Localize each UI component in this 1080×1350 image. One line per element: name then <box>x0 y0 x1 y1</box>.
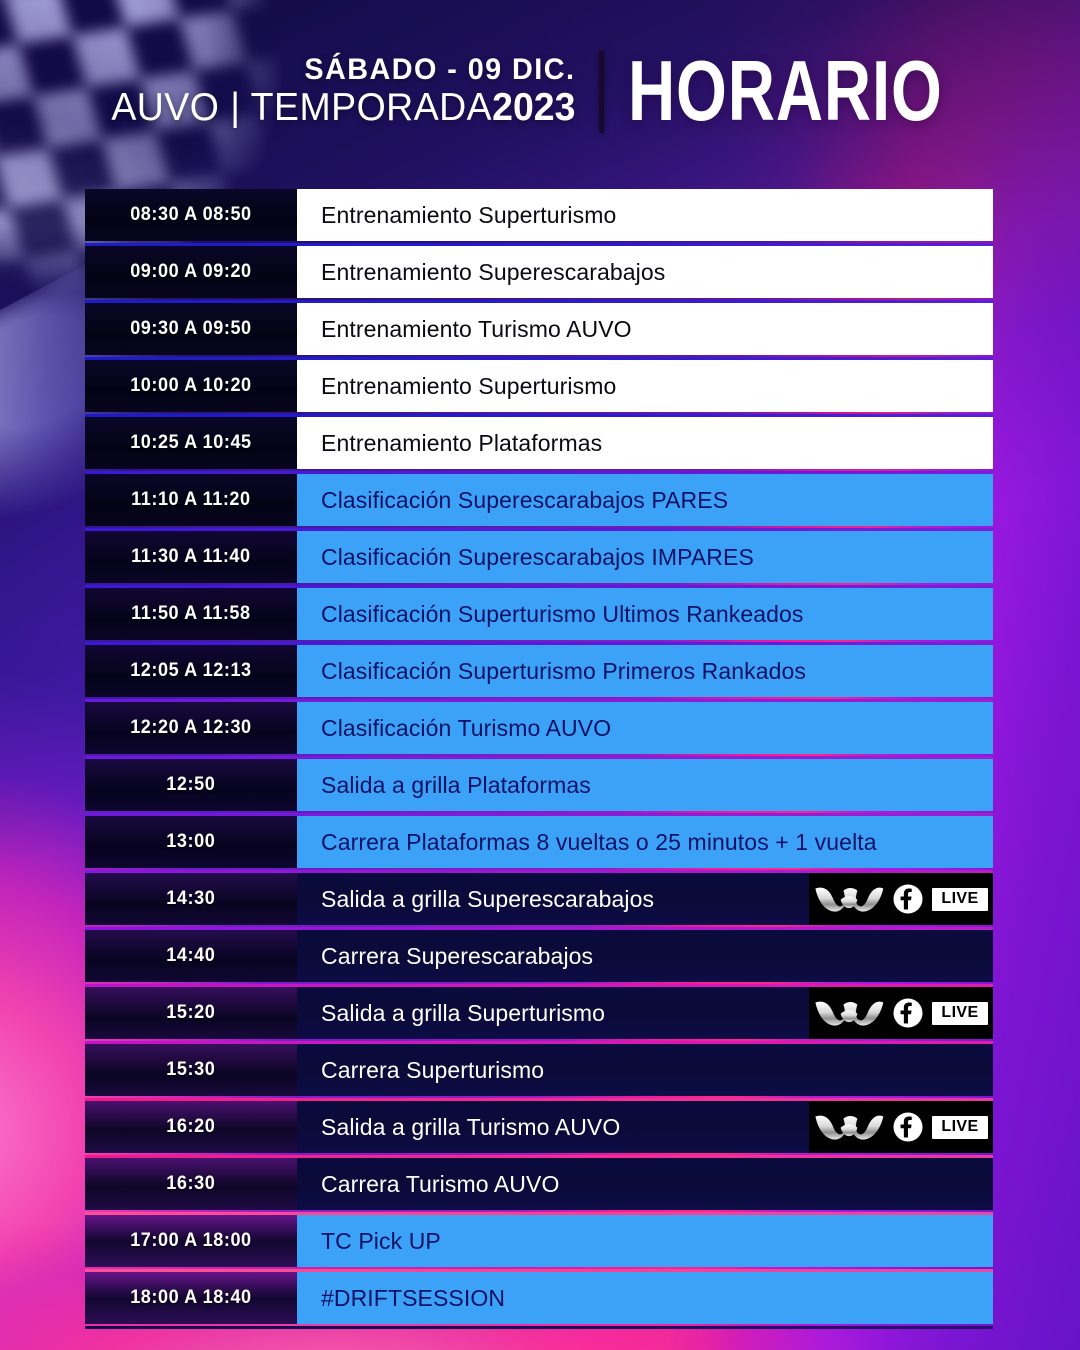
time-text: 12:20 A 12:30 <box>130 717 251 739</box>
time-text: 12:05 A 12:13 <box>130 660 251 682</box>
live-broadcast-badge[interactable]: LIVE <box>809 873 993 925</box>
schedule-row-time: 14:30 <box>85 873 297 925</box>
schedule-row-time: 11:30 A 11:40 <box>85 531 297 583</box>
page-title: HORARIO <box>628 52 943 133</box>
schedule-row-event: Entrenamiento Plataformas <box>297 417 993 469</box>
time-text: 16:30 <box>166 1173 215 1195</box>
schedule-row-event: #DRIFTSESSION <box>297 1272 993 1324</box>
schedule-row: 14:40Carrera Superescarabajos <box>85 930 993 982</box>
header-inner: SÁBADO - 09 DIC. AUVO | TEMPORADA2023 HO… <box>92 51 994 133</box>
schedule-row-event: Salida a grilla SuperescarabajosLIVE <box>297 873 993 925</box>
schedule-row-time: 12:50 <box>85 759 297 811</box>
schedule-row: 12:05 A 12:13Clasificación Superturismo … <box>85 645 993 697</box>
header-season: AUVO | TEMPORADA2023 <box>111 86 575 130</box>
live-broadcast-badge[interactable]: LIVE <box>809 1101 993 1153</box>
schedule-row: 18:00 A 18:40#DRIFTSESSION <box>85 1272 993 1324</box>
event-text: Salida a grilla Plataformas <box>321 772 591 799</box>
time-text: 09:30 A 09:50 <box>130 318 251 340</box>
event-text: Entrenamiento Plataformas <box>321 430 602 457</box>
schedule-row-event: Clasificación Superescarabajos IMPARES <box>297 531 993 583</box>
schedule-row: 11:50 A 11:58Clasificación Superturismo … <box>85 588 993 640</box>
time-text: 16:20 <box>166 1116 215 1138</box>
schedule-row-time: 13:00 <box>85 816 297 868</box>
time-text: 11:10 A 11:20 <box>131 489 250 511</box>
header-divider <box>599 51 604 133</box>
header-text-block: SÁBADO - 09 DIC. AUVO | TEMPORADA2023 <box>92 54 597 129</box>
schedule-row-time: 17:00 A 18:00 <box>85 1215 297 1267</box>
schedule-row: 09:00 A 09:20Entrenamiento Superescaraba… <box>85 246 993 298</box>
schedule-row-event: Entrenamiento Superturismo <box>297 189 993 241</box>
schedule-row: 15:20Salida a grilla SuperturismoLIVE <box>85 987 993 1039</box>
event-text: Entrenamiento Superescarabajos <box>321 259 665 286</box>
schedule-row: 09:30 A 09:50Entrenamiento Turismo AUVO <box>85 303 993 355</box>
schedule-row: 16:30Carrera Turismo AUVO <box>85 1158 993 1210</box>
schedule-row-time: 18:00 A 18:40 <box>85 1272 297 1324</box>
event-text: TC Pick UP <box>321 1228 441 1255</box>
schedule-row: 14:30Salida a grilla SuperescarabajosLIV… <box>85 873 993 925</box>
schedule-row: 17:00 A 18:00TC Pick UP <box>85 1215 993 1267</box>
facebook-icon <box>893 1112 923 1142</box>
event-text: Carrera Superturismo <box>321 1057 544 1084</box>
vtv-logo-icon <box>814 998 884 1028</box>
schedule-row-event: Carrera Superescarabajos <box>297 930 993 982</box>
facebook-icon <box>893 884 923 914</box>
time-text: 13:00 <box>166 831 215 853</box>
schedule-row-event: Entrenamiento Superturismo <box>297 360 993 412</box>
schedule-row-event: Salida a grilla Turismo AUVOLIVE <box>297 1101 993 1153</box>
schedule-row: 12:20 A 12:30Clasificación Turismo AUVO <box>85 702 993 754</box>
schedule-row-time: 12:20 A 12:30 <box>85 702 297 754</box>
event-text: Clasificación Superescarabajos IMPARES <box>321 544 754 571</box>
schedule-row: 16:20Salida a grilla Turismo AUVOLIVE <box>85 1101 993 1153</box>
time-text: 12:50 <box>166 774 215 796</box>
schedule-row-event: Carrera Superturismo <box>297 1044 993 1096</box>
time-text: 11:30 A 11:40 <box>131 546 250 568</box>
header-season-prefix: AUVO | TEMPORADA <box>111 86 492 129</box>
event-text: Clasificación Turismo AUVO <box>321 715 611 742</box>
event-text: Entrenamiento Superturismo <box>321 202 616 229</box>
time-text: 15:30 <box>166 1059 215 1081</box>
event-text: #DRIFTSESSION <box>321 1285 505 1312</box>
schedule-row-event: Salida a grilla SuperturismoLIVE <box>297 987 993 1039</box>
schedule-row-time: 10:00 A 10:20 <box>85 360 297 412</box>
event-text: Carrera Superescarabajos <box>321 943 593 970</box>
event-text: Carrera Plataformas 8 vueltas o 25 minut… <box>321 829 877 856</box>
time-text: 18:00 A 18:40 <box>130 1287 251 1309</box>
schedule-row-time: 12:05 A 12:13 <box>85 645 297 697</box>
schedule-row: 11:30 A 11:40Clasificación Superescaraba… <box>85 531 993 583</box>
event-text: Entrenamiento Superturismo <box>321 373 616 400</box>
time-text: 14:40 <box>166 945 215 967</box>
schedule-row: 10:25 A 10:45Entrenamiento Plataformas <box>85 417 993 469</box>
schedule-row-event: Clasificación Superescarabajos PARES <box>297 474 993 526</box>
schedule-row-time: 11:10 A 11:20 <box>85 474 297 526</box>
schedule-row-time: 14:40 <box>85 930 297 982</box>
live-broadcast-badge[interactable]: LIVE <box>809 987 993 1039</box>
time-text: 15:20 <box>166 1002 215 1024</box>
schedule-row-event: Carrera Plataformas 8 vueltas o 25 minut… <box>297 816 993 868</box>
schedule-row-event: Entrenamiento Turismo AUVO <box>297 303 993 355</box>
schedule-row-time: 10:25 A 10:45 <box>85 417 297 469</box>
schedule-row: 10:00 A 10:20Entrenamiento Superturismo <box>85 360 993 412</box>
schedule-row-event: Carrera Turismo AUVO <box>297 1158 993 1210</box>
time-text: 11:50 A 11:58 <box>131 603 250 625</box>
schedule-table: 08:30 A 08:50Entrenamiento Superturismo0… <box>85 189 993 1324</box>
event-text: Clasificación Superescarabajos PARES <box>321 487 728 514</box>
schedule-row: 12:50Salida a grilla Plataformas <box>85 759 993 811</box>
schedule-row: 15:30Carrera Superturismo <box>85 1044 993 1096</box>
live-label: LIVE <box>932 888 987 911</box>
schedule-row-event: Clasificación Superturismo Ultimos Ranke… <box>297 588 993 640</box>
schedule-row-time: 09:00 A 09:20 <box>85 246 297 298</box>
event-text: Carrera Turismo AUVO <box>321 1171 559 1198</box>
schedule-row-time: 16:20 <box>85 1101 297 1153</box>
event-text: Clasificación Superturismo Ultimos Ranke… <box>321 601 803 628</box>
time-text: 09:00 A 09:20 <box>130 261 251 283</box>
schedule-row: 13:00Carrera Plataformas 8 vueltas o 25 … <box>85 816 993 868</box>
event-text: Salida a grilla Superturismo <box>321 1000 605 1027</box>
event-text: Entrenamiento Turismo AUVO <box>321 316 632 343</box>
header-season-year: 2023 <box>492 86 575 129</box>
time-text: 14:30 <box>166 888 215 910</box>
schedule-row-event: Clasificación Superturismo Primeros Rank… <box>297 645 993 697</box>
schedule-row: 08:30 A 08:50Entrenamiento Superturismo <box>85 189 993 241</box>
event-text: Salida a grilla Superescarabajos <box>321 886 654 913</box>
schedule-row-time: 09:30 A 09:50 <box>85 303 297 355</box>
time-text: 17:00 A 18:00 <box>130 1230 251 1252</box>
time-text: 10:00 A 10:20 <box>130 375 251 397</box>
schedule-row: 11:10 A 11:20Clasificación Superescaraba… <box>85 474 993 526</box>
row-separator <box>85 1326 993 1329</box>
schedule-row-event: Salida a grilla Plataformas <box>297 759 993 811</box>
schedule-row-event: Entrenamiento Superescarabajos <box>297 246 993 298</box>
schedule-row-time: 15:20 <box>85 987 297 1039</box>
vtv-logo-icon <box>814 884 884 914</box>
schedule-row-time: 11:50 A 11:58 <box>85 588 297 640</box>
time-text: 08:30 A 08:50 <box>130 204 251 226</box>
facebook-icon <box>893 998 923 1028</box>
header: SÁBADO - 09 DIC. AUVO | TEMPORADA2023 HO… <box>0 0 1080 184</box>
live-label: LIVE <box>932 1002 987 1025</box>
time-text: 10:25 A 10:45 <box>130 432 251 454</box>
event-text: Clasificación Superturismo Primeros Rank… <box>321 658 806 685</box>
schedule-row-time: 15:30 <box>85 1044 297 1096</box>
header-date: SÁBADO - 09 DIC. <box>111 54 575 86</box>
schedule-row-time: 08:30 A 08:50 <box>85 189 297 241</box>
event-text: Salida a grilla Turismo AUVO <box>321 1114 620 1141</box>
vtv-logo-icon <box>814 1112 884 1142</box>
schedule-row-time: 16:30 <box>85 1158 297 1210</box>
live-label: LIVE <box>932 1116 987 1139</box>
schedule-row-event: Clasificación Turismo AUVO <box>297 702 993 754</box>
schedule-row-event: TC Pick UP <box>297 1215 993 1267</box>
